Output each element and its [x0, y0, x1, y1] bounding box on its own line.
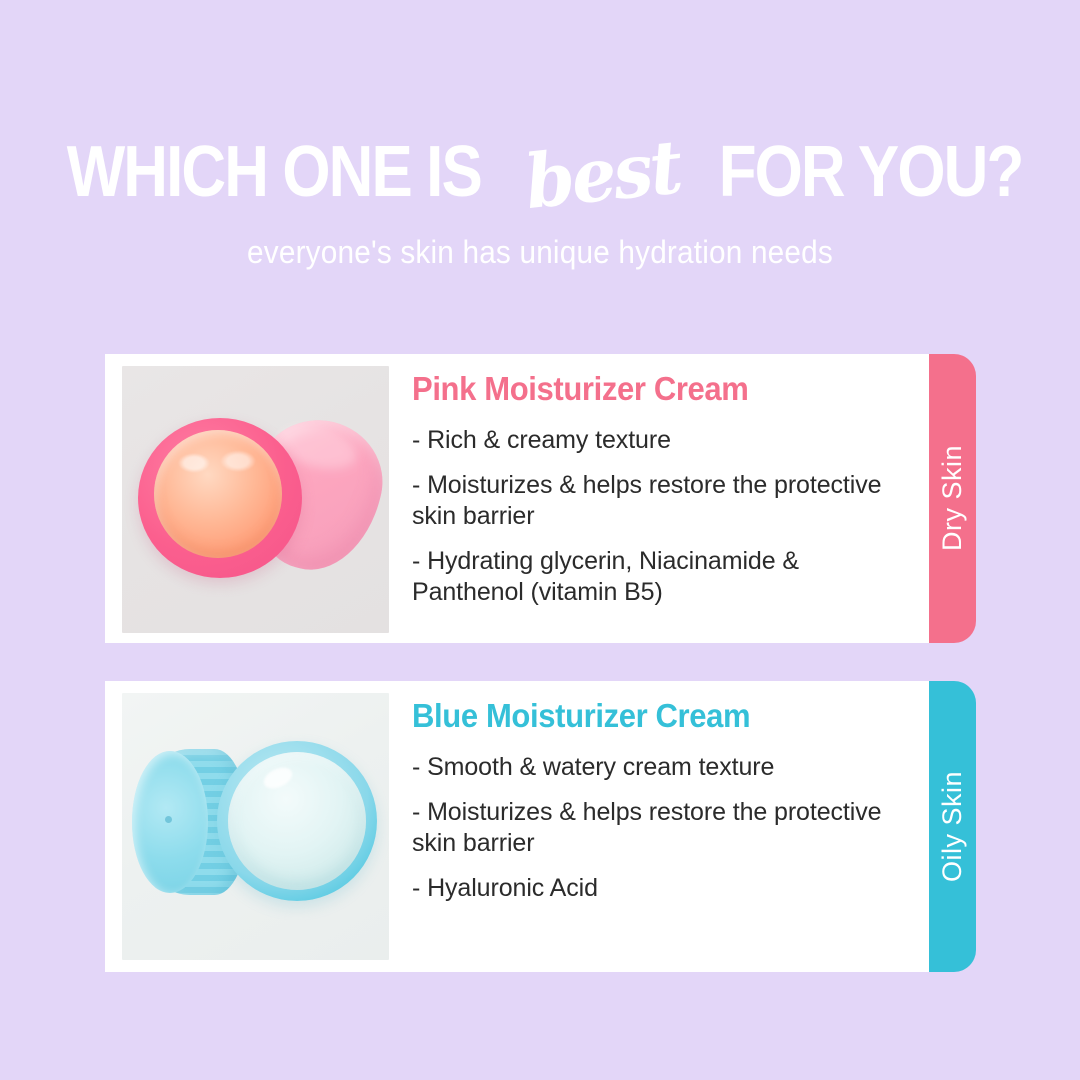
- pink-product-title: Pink Moisturizer Cream: [412, 371, 898, 407]
- pink-jar-cream-swirl: [168, 440, 268, 486]
- blue-feature-2: - Moisturizes & helps restore the protec…: [412, 797, 890, 859]
- pink-moisturizer-jar-photo: [122, 366, 389, 633]
- headline-script-word: best: [522, 130, 683, 220]
- headline-text-after: FOR YOU?: [718, 136, 1022, 208]
- page-subtitle: everyone's skin has unique hydration nee…: [38, 234, 1042, 271]
- blue-card-body: Blue Moisturizer Cream - Smooth & watery…: [389, 681, 929, 918]
- pink-feature-3: - Hydrating glycerin, Niacinamide & Pant…: [412, 546, 890, 608]
- poster-canvas: WHICH ONE IS best FOR YOU? everyone's sk…: [0, 0, 1080, 1080]
- skin-type-tab-dry-label: Dry Skin: [937, 445, 968, 551]
- skin-type-tab-oily-label: Oily Skin: [937, 771, 968, 882]
- blue-feature-3: - Hyaluronic Acid: [412, 873, 890, 904]
- page-headline: WHICH ONE IS best FOR YOU?: [0, 134, 1080, 208]
- product-card-pink[interactable]: Pink Moisturizer Cream - Rich & creamy t…: [105, 354, 929, 643]
- header: WHICH ONE IS best FOR YOU? everyone's sk…: [0, 134, 1080, 271]
- pink-feature-1: - Rich & creamy texture: [412, 425, 890, 456]
- product-card-blue[interactable]: Blue Moisturizer Cream - Smooth & watery…: [105, 681, 929, 972]
- pink-card-body: Pink Moisturizer Cream - Rich & creamy t…: [389, 354, 929, 622]
- skin-type-tab-dry[interactable]: Dry Skin: [929, 354, 976, 643]
- pink-feature-2: - Moisturizes & helps restore the protec…: [412, 470, 890, 532]
- headline-text-before: WHICH ONE IS: [67, 136, 481, 208]
- blue-product-title: Blue Moisturizer Cream: [412, 698, 898, 734]
- blue-jar-cream-fill: [228, 752, 366, 890]
- blue-moisturizer-jar-photo: [122, 693, 389, 960]
- blue-jar-cap-face: [132, 751, 208, 893]
- blue-feature-1: - Smooth & watery cream texture: [412, 752, 890, 783]
- skin-type-tab-oily[interactable]: Oily Skin: [929, 681, 976, 972]
